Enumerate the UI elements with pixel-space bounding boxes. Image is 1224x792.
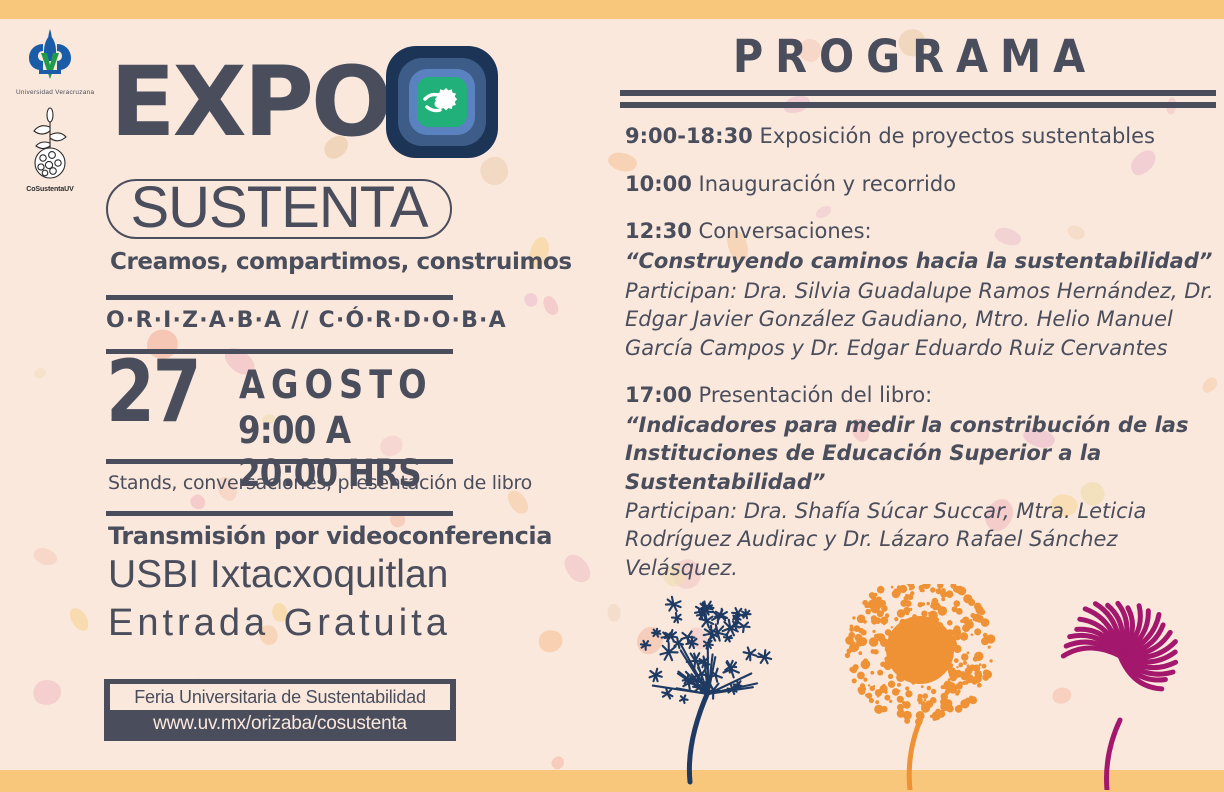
puff-speck bbox=[973, 614, 981, 622]
program-item: 9:00-18:30 Exposición de proyectos suste… bbox=[625, 123, 1221, 151]
top-band bbox=[0, 0, 1224, 19]
university-logo-caption: Universidad Veracruzana bbox=[16, 89, 84, 96]
puff-speck bbox=[885, 640, 890, 645]
puff-speck bbox=[905, 611, 909, 615]
puff-speck bbox=[872, 630, 875, 633]
program-item-heading: 10:00 Inauguración y recorrido bbox=[625, 171, 1221, 199]
puff-speck bbox=[984, 621, 987, 624]
puff-speck bbox=[984, 673, 990, 679]
puff-speck bbox=[922, 675, 925, 678]
universidad-veracruzana-logo: Universidad Veracruzana bbox=[16, 27, 84, 96]
program-title-rules bbox=[620, 90, 1216, 108]
puff-speck bbox=[921, 685, 924, 688]
puff-speck bbox=[984, 635, 989, 640]
puff-speck bbox=[912, 614, 917, 619]
program-item-heading: 17:00 Presentación del libro: bbox=[625, 382, 1221, 410]
expo-wordmark: EXPO bbox=[110, 58, 390, 146]
puff-speck bbox=[873, 685, 875, 687]
puff-speck bbox=[988, 646, 991, 649]
puff-speck bbox=[928, 612, 931, 615]
footer-title-plate: Feria Universitaria de Sustentabilidad bbox=[110, 684, 450, 710]
sustenta-pill: SUSTENTA bbox=[106, 179, 452, 239]
dandelion-magenta-icon bbox=[1063, 603, 1175, 790]
puff-speck bbox=[885, 629, 892, 636]
puff-speck bbox=[970, 619, 972, 621]
puff-speck bbox=[930, 697, 937, 704]
puff-speck bbox=[884, 657, 889, 662]
program-item-participants: Participan: Dra. Shafía Súcar Succar, Mt… bbox=[625, 497, 1221, 583]
program-item: 10:00 Inauguración y recorrido bbox=[625, 171, 1221, 199]
puff-speck bbox=[855, 646, 858, 649]
puff-speck bbox=[863, 678, 867, 682]
puff-speck bbox=[879, 600, 886, 607]
divider-rule-top bbox=[106, 295, 453, 300]
puff-speck bbox=[877, 695, 880, 698]
puff-speck bbox=[974, 652, 983, 661]
puff-speck bbox=[958, 588, 961, 591]
seed-spoke bbox=[668, 690, 672, 694]
sustenta-wordmark: SUSTENTA bbox=[130, 179, 427, 237]
puff-speck bbox=[911, 680, 916, 685]
puff-speck bbox=[977, 683, 982, 688]
puff-speck bbox=[868, 684, 870, 686]
puff-speck bbox=[959, 663, 963, 667]
program-item-subtitle: “Indicadores para medir la constribución… bbox=[625, 411, 1221, 496]
puff-speck bbox=[927, 686, 932, 691]
puff-speck bbox=[921, 589, 925, 593]
puff-speck bbox=[884, 695, 890, 701]
puff-speck bbox=[926, 680, 929, 683]
puff-speck bbox=[961, 700, 967, 706]
puff-speck bbox=[902, 701, 905, 704]
puff-speck bbox=[954, 600, 961, 607]
puff-speck bbox=[865, 609, 871, 615]
seed-spoke bbox=[738, 609, 742, 614]
puff-speck bbox=[875, 700, 879, 704]
puff-speck bbox=[849, 627, 854, 632]
puff-speck bbox=[893, 629, 895, 631]
program-item-time: 17:00 bbox=[625, 383, 692, 407]
puff-speck bbox=[858, 651, 862, 655]
puff-speck bbox=[962, 633, 966, 637]
program-item-time: 10:00 bbox=[625, 172, 692, 196]
mark-layer-3 bbox=[409, 69, 475, 135]
puff-speck bbox=[918, 624, 927, 633]
puff-speck bbox=[930, 587, 935, 592]
program-item: 12:30 Conversaciones:“Construyendo camin… bbox=[625, 218, 1221, 362]
cosustentauv-logo: CoSustentaUV bbox=[14, 105, 86, 193]
footer-title: Feria Universitaria de Sustentabilidad bbox=[134, 687, 426, 708]
puff-speck bbox=[947, 620, 953, 626]
dandelion-illustrations bbox=[620, 584, 1224, 790]
puff-speck bbox=[975, 606, 983, 614]
puff-speck bbox=[953, 645, 961, 653]
seed-spoke bbox=[729, 620, 731, 628]
puff-speck bbox=[918, 702, 921, 705]
program-item-subtitle: “Construyendo caminos hacia la sustentab… bbox=[625, 247, 1221, 275]
puff-speck bbox=[956, 705, 962, 711]
puff-speck bbox=[885, 645, 893, 653]
program-item-heading: 12:30 Conversaciones: bbox=[625, 218, 1221, 246]
program-item-description: Exposición de proyectos sustentables bbox=[753, 124, 1155, 148]
puff-speck bbox=[958, 681, 963, 686]
seed-spoke bbox=[674, 601, 681, 604]
puff-speck bbox=[915, 718, 923, 726]
puff-speck bbox=[897, 613, 900, 616]
puff-speck bbox=[900, 636, 909, 645]
divider-rule-date bbox=[106, 459, 453, 464]
program-item-time: 12:30 bbox=[625, 219, 692, 243]
puff-speck bbox=[940, 591, 947, 598]
puff-speck bbox=[862, 600, 868, 606]
puff-speck bbox=[860, 683, 865, 688]
event-day: 27 bbox=[106, 349, 199, 435]
puff-speck bbox=[882, 684, 885, 687]
fleur-de-lis-icon bbox=[19, 27, 81, 83]
expo-wordmark-row: EXPO bbox=[110, 46, 498, 158]
program-item-description: Presentación del libro: bbox=[692, 383, 932, 407]
puff-speck bbox=[957, 690, 960, 693]
puff-speck bbox=[937, 584, 943, 589]
puff-speck bbox=[961, 653, 968, 660]
puff-speck bbox=[902, 659, 908, 665]
puff-speck bbox=[954, 658, 959, 663]
puff-speck bbox=[989, 659, 992, 662]
puff-speck bbox=[876, 633, 881, 638]
seed-spoke bbox=[750, 650, 755, 654]
puff-speck bbox=[918, 676, 921, 679]
cosustenta-logo-caption: CoSustentaUV bbox=[14, 186, 86, 193]
program-item-participants: Participan: Dra. Silvia Guadalupe Ramos … bbox=[625, 277, 1221, 363]
puff-speck bbox=[969, 696, 977, 704]
puff-speck bbox=[858, 688, 865, 695]
puff-speck bbox=[891, 661, 898, 668]
program-item-time: 9:00-18:30 bbox=[625, 124, 753, 148]
puff-speck bbox=[861, 660, 871, 670]
right-column: PROGRAMA 9:00-18:30 Exposición de proyec… bbox=[620, 19, 1224, 770]
program-item-heading: 9:00-18:30 Exposición de proyectos suste… bbox=[625, 123, 1221, 151]
puff-speck bbox=[972, 679, 978, 685]
expo-sustenta-mark-icon bbox=[386, 46, 498, 158]
puff-speck bbox=[884, 663, 887, 666]
seed-spoke bbox=[716, 669, 718, 676]
puff-speck bbox=[897, 696, 901, 700]
dandelion-navy-icon bbox=[641, 597, 771, 782]
puff-speck bbox=[979, 663, 982, 666]
event-date-block: 27 AGOSTO 9:00 A 20:00 HRS bbox=[106, 355, 456, 455]
poster-canvas: Universidad Veracruzana bbox=[0, 0, 1224, 792]
puff-speck bbox=[858, 637, 867, 646]
puff-speck bbox=[873, 649, 878, 654]
puff-speck bbox=[945, 683, 954, 692]
puff-speck bbox=[848, 632, 855, 639]
free-entry-label: Entrada Gratuita bbox=[108, 602, 451, 645]
dandelion-orange-icon bbox=[845, 584, 996, 790]
puff-speck bbox=[902, 585, 904, 587]
puff-speck bbox=[943, 664, 950, 671]
puff-speck bbox=[963, 594, 972, 603]
puff-speck bbox=[865, 694, 868, 697]
puff-speck bbox=[940, 702, 949, 711]
puff-speck bbox=[935, 709, 941, 715]
puff-speck bbox=[936, 627, 944, 635]
footer-url[interactable]: www.uv.mx/orizaba/cosustenta bbox=[110, 713, 450, 735]
puff-speck bbox=[930, 715, 933, 718]
puff-speck bbox=[955, 630, 958, 633]
puff-speck bbox=[965, 682, 968, 685]
puff-speck bbox=[905, 690, 912, 697]
puff-speck bbox=[852, 678, 857, 683]
puff-speck bbox=[924, 699, 927, 702]
puff-speck bbox=[888, 674, 893, 679]
puff-speck bbox=[927, 602, 930, 605]
puff-speck bbox=[909, 608, 912, 611]
puff-speck bbox=[967, 651, 970, 654]
puff-speck bbox=[904, 718, 910, 724]
program-title: PROGRAMA bbox=[644, 30, 1187, 83]
puff-speck bbox=[899, 627, 907, 635]
puff-speck bbox=[897, 609, 905, 617]
broadcast-label: Transmisión por videoconferencia bbox=[108, 522, 552, 550]
event-month: AGOSTO bbox=[239, 363, 433, 408]
puff-speck bbox=[905, 600, 912, 607]
sprout-seed-icon bbox=[18, 105, 82, 181]
puff-speck bbox=[877, 670, 883, 676]
puff-speck bbox=[935, 617, 940, 622]
puff-speck bbox=[845, 653, 850, 658]
puff-speck bbox=[962, 624, 970, 632]
puff-speck bbox=[941, 597, 945, 601]
puff-speck bbox=[905, 686, 909, 690]
puff-speck bbox=[863, 620, 867, 624]
puff-speck bbox=[897, 683, 901, 687]
puff-speck bbox=[904, 596, 909, 601]
brand-tagline: Creamos, compartimos, construimos bbox=[110, 249, 572, 275]
puff-speck bbox=[877, 586, 885, 594]
event-venue: USBI Ixtacxoquitlan bbox=[108, 553, 448, 597]
puff-speck bbox=[963, 661, 967, 665]
puff-speck bbox=[869, 637, 879, 647]
puff-speck bbox=[923, 693, 929, 699]
puff-speck bbox=[952, 606, 958, 612]
puff-speck bbox=[956, 666, 958, 668]
puff-speck bbox=[853, 625, 860, 632]
puff-speck bbox=[982, 664, 987, 669]
puff-speck bbox=[906, 669, 910, 673]
program-item: 17:00 Presentación del libro:“Indicadore… bbox=[625, 382, 1221, 582]
puff-speck bbox=[857, 672, 865, 680]
puff-speck bbox=[881, 706, 887, 712]
puff-speck bbox=[889, 700, 892, 703]
seed-spoke bbox=[678, 640, 681, 644]
mark-layer-2 bbox=[398, 58, 486, 146]
puff-speck bbox=[928, 670, 933, 675]
dandelions-svg bbox=[620, 584, 1224, 790]
puff-speck bbox=[888, 681, 895, 688]
event-cities: O·R·I·Z·A·B·A // C·Ó·R·D·O·B·A bbox=[106, 308, 453, 333]
event-activities: Stands, conversaciones, presentación de … bbox=[108, 472, 532, 494]
left-column: Universidad Veracruzana bbox=[0, 19, 600, 770]
puff-speck bbox=[852, 616, 855, 619]
puff-speck bbox=[945, 638, 954, 647]
puff-speck bbox=[918, 602, 923, 607]
puff-speck bbox=[933, 602, 941, 610]
puff-speck bbox=[870, 671, 874, 675]
puff-speck bbox=[941, 693, 948, 700]
swirl-gear-icon bbox=[421, 81, 463, 123]
program-schedule: 9:00-18:30 Exposición de proyectos suste… bbox=[625, 123, 1221, 603]
puff-speck bbox=[967, 666, 971, 670]
puff-speck bbox=[971, 634, 974, 637]
program-item-description: Conversaciones: bbox=[692, 219, 872, 243]
puff-speck bbox=[921, 704, 930, 713]
puff-speck bbox=[897, 704, 904, 711]
puff-speck bbox=[931, 689, 936, 694]
puff-speck bbox=[896, 673, 905, 682]
puff-speck bbox=[850, 667, 857, 674]
puff-speck bbox=[962, 671, 965, 674]
puff-speck bbox=[962, 617, 969, 624]
puff-speck bbox=[945, 630, 953, 638]
puff-speck bbox=[894, 617, 898, 621]
rule-lower bbox=[620, 102, 1216, 108]
program-item-description: Inauguración y recorrido bbox=[692, 172, 956, 196]
puff-speck bbox=[874, 593, 878, 597]
puff-speck bbox=[891, 626, 893, 628]
puff-speck bbox=[974, 628, 981, 635]
puff-speck bbox=[861, 630, 867, 636]
puff-speck bbox=[950, 674, 957, 681]
divider-rule-activities bbox=[106, 511, 453, 516]
puff-speck bbox=[921, 611, 927, 617]
puff-speck bbox=[883, 623, 886, 626]
footer-contact-box: Feria Universitaria de Sustentabilidad w… bbox=[104, 679, 456, 741]
puff-speck bbox=[977, 673, 983, 679]
puff-speck bbox=[892, 688, 900, 696]
mark-layer-4 bbox=[417, 77, 467, 127]
puff-speck bbox=[891, 586, 894, 589]
